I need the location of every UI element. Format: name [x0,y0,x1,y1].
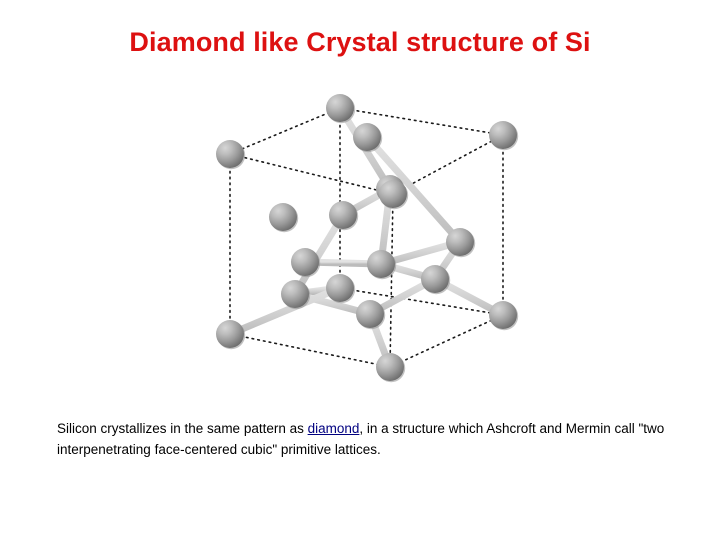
atom-layer [216,94,518,382]
atom-sphere [353,123,381,151]
silicon-atom-corner-bottom-left [216,320,245,349]
silicon-atom-tetra-lower-center [281,280,310,309]
atom-sphere [216,140,244,168]
atom-sphere [326,274,354,302]
cube-edge [230,108,340,154]
caption-text: Silicon crystallizes in the same pattern… [57,418,682,460]
atom-sphere [281,280,309,308]
silicon-atom-face-top [353,123,382,152]
atom-sphere [329,201,357,229]
atom-sphere [421,265,449,293]
atom-sphere [356,300,384,328]
cube-edge [390,315,503,367]
atom-sphere [291,248,319,276]
atom-sphere [489,121,517,149]
slide-canvas: Diamond like Crystal structure of Si [0,0,720,540]
atom-sphere [379,180,407,208]
atom-sphere [367,250,395,278]
silicon-atom-corner-bottom-back [326,274,355,303]
page-title: Diamond like Crystal structure of Si [0,27,720,58]
atom-sphere [489,301,517,329]
atom-sphere [376,353,404,381]
atom-sphere [326,94,354,122]
diamond-cubic-lattice-svg [185,82,535,392]
silicon-atom-corner-top-right [489,121,518,150]
atom-sphere [269,203,297,231]
atom-sphere [446,228,474,256]
diamond-link[interactable]: diamond [308,421,360,436]
silicon-atom-face-left [269,203,298,232]
silicon-atom-face-front [367,250,396,279]
crystal-structure-figure [185,82,535,392]
cube-edge [390,194,393,367]
silicon-atom-tetra-upper-left [291,248,320,277]
cube-edge [230,334,390,367]
silicon-atom-corner-top-left [216,140,245,169]
silicon-atom-corner-bottom-front [376,353,405,382]
atom-sphere [216,320,244,348]
silicon-atom-corner-top-back [326,94,355,123]
silicon-atom-tetra-lower-right [421,265,450,294]
silicon-atom-corner-bottom-right [489,301,518,330]
caption-part-one: Silicon crystallizes in the same pattern… [57,421,308,436]
